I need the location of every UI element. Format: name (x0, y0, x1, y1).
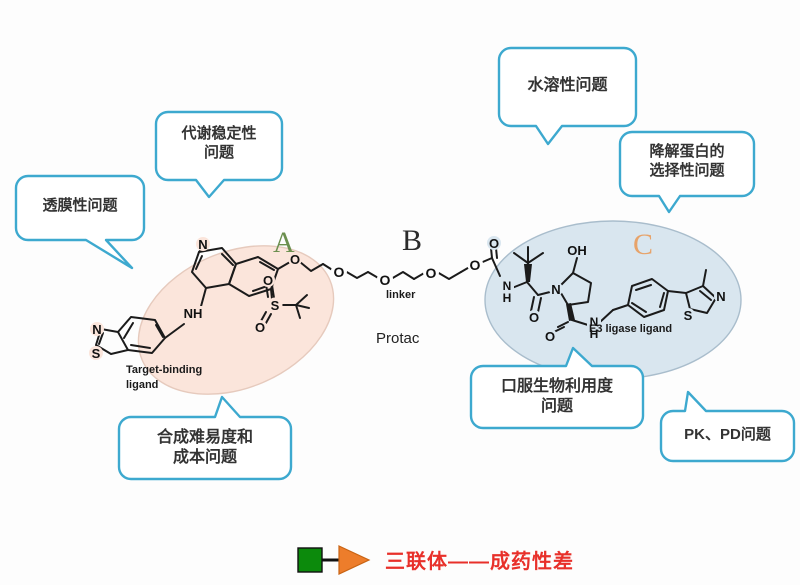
section-letter-a: A (273, 226, 295, 260)
caption-linker: linker (386, 289, 415, 301)
atom-N-benzothiazole: N (92, 322, 101, 337)
atom-O-sulfonyl-up: O (263, 273, 273, 288)
legend-icon-group (298, 546, 369, 574)
atom-O-sulfonyl-down: O (255, 320, 265, 335)
protac-diagram-canvas: N S NH N O S O O O O O O O (0, 0, 800, 585)
bubble-permeability[interactable] (16, 176, 144, 268)
legend-label: 三联体——成药性差 (385, 545, 574, 574)
atom-O-linker-2: O (380, 272, 391, 288)
atom-O-linker-1: O (334, 264, 345, 280)
atom-S-sulfonyl: S (271, 298, 280, 313)
caption-target-binding-ligand: Target-binding ligand (126, 363, 236, 393)
bubble-pk-pd[interactable] (661, 392, 794, 461)
atom-O-amide-1: O (489, 236, 499, 251)
atom-NH-aniline: NH (184, 306, 203, 321)
atom-OH-hydroxyproline: OH (567, 243, 587, 258)
e3-ligase-ligand-ellipse (485, 221, 741, 379)
atom-N-quinoline: N (198, 237, 207, 252)
atom-N-pyrrolidine: N (551, 282, 560, 297)
bubble-metabolic-stability[interactable] (156, 112, 282, 197)
atom-O-linker-4: O (470, 257, 481, 273)
bubble-water-solubility[interactable] (499, 48, 636, 144)
atom-O-linker-3: O (426, 265, 437, 281)
section-letter-c: C (633, 228, 653, 262)
section-letter-b: B (402, 224, 422, 258)
orange-arrow-icon (339, 546, 369, 574)
atom-S-thiazole: S (684, 308, 693, 323)
atom-O-amide-3: O (545, 329, 555, 344)
green-square-icon (298, 548, 322, 572)
atom-N-thiazole: N (716, 289, 725, 304)
atom-O-amide-2: O (529, 310, 539, 325)
atom-H-amide-1: H (503, 291, 512, 305)
atom-S-benzothiazole: S (92, 346, 101, 361)
bubble-synthesis-cost[interactable] (119, 397, 291, 479)
bubble-degradation-selectivity[interactable] (620, 132, 754, 212)
caption-protac: Protac (376, 330, 419, 347)
caption-e3-ligase-ligand: E3 ligase ligand (589, 323, 672, 335)
